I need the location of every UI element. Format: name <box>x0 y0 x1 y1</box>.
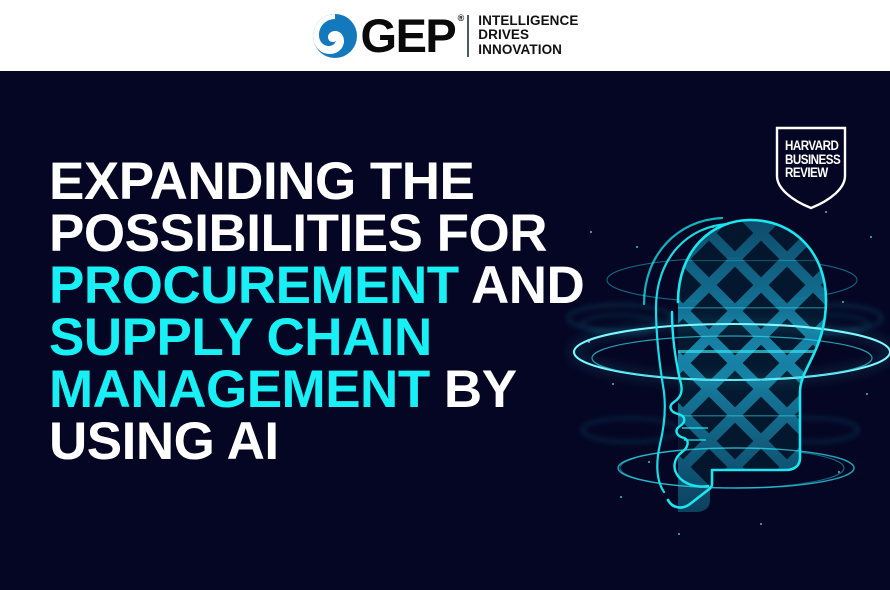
headline-line-4: SUPPLY CHAIN <box>49 312 629 364</box>
gep-logo-lockup[interactable]: GEP ® INTELLIGENCE DRIVES INNOVATION <box>312 12 579 60</box>
poster-canvas: GEP ® INTELLIGENCE DRIVES INNOVATION <box>0 0 890 590</box>
headline-line-1: EXPANDING THE <box>49 156 629 208</box>
hero-headline: EXPANDING THE POSSIBILITIES FOR PROCUREM… <box>49 156 629 468</box>
tagline-line-3: INNOVATION <box>478 42 562 57</box>
registered-trademark-icon: ® <box>458 14 465 23</box>
headline-line-5: MANAGEMENT BY <box>49 364 629 416</box>
hbr-line-3: REVIEW <box>785 166 833 180</box>
logo-divider <box>467 15 469 57</box>
hbr-line-1: HARVARD <box>785 139 833 153</box>
headline-line-6: USING AI <box>49 416 629 468</box>
headline-line-5-suffix: BY <box>430 360 517 419</box>
headline-line-5-accent: MANAGEMENT <box>49 360 430 419</box>
headline-line-3-accent: PROCUREMENT <box>49 256 459 315</box>
hbr-line-2: BUSINESS <box>785 153 833 167</box>
headline-line-2: POSSIBILITIES FOR <box>49 208 629 260</box>
headline-line-1-text: EXPANDING THE <box>49 152 474 211</box>
brand-header-bar: GEP ® INTELLIGENCE DRIVES INNOVATION <box>0 0 890 71</box>
headline-line-3-suffix: AND <box>459 256 585 315</box>
gep-wordmark: GEP ® <box>361 12 465 59</box>
gep-wordmark-text: GEP <box>361 9 456 62</box>
harvard-business-review-badge: HARVARD BUSINESS REVIEW <box>775 126 847 210</box>
headline-line-2-text: POSSIBILITIES FOR <box>49 204 547 263</box>
headline-line-3: PROCUREMENT AND <box>49 260 629 312</box>
hbr-badge-text: HARVARD BUSINESS REVIEW <box>785 139 833 180</box>
tagline-line-1: INTELLIGENCE <box>478 13 578 28</box>
gep-tagline: INTELLIGENCE DRIVES INNOVATION <box>478 14 578 58</box>
tagline-line-2: DRIVES <box>478 27 529 42</box>
gep-swirl-icon <box>312 13 358 59</box>
headline-line-6-text: USING AI <box>49 412 279 471</box>
headline-line-4-accent: SUPPLY CHAIN <box>49 308 432 367</box>
